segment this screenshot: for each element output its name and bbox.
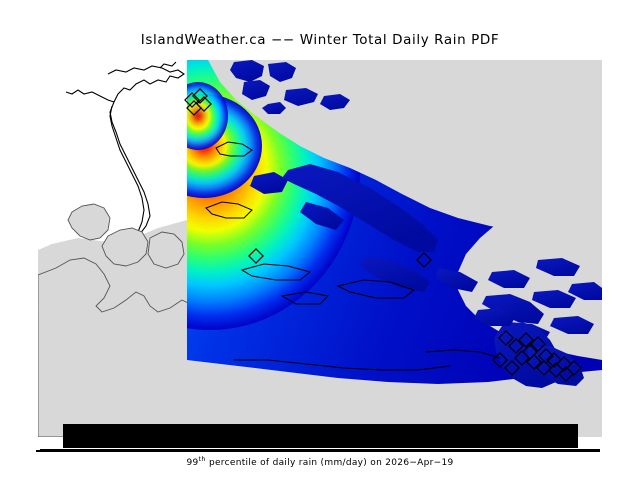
colorbar-gradient bbox=[63, 424, 578, 448]
caption-superscript: th bbox=[199, 455, 206, 463]
colorbar-axis-line bbox=[40, 449, 600, 452]
colorbar-caption: 99th percentile of daily rain (mm/day) o… bbox=[0, 458, 640, 468]
map-canvas[interactable] bbox=[38, 60, 602, 437]
colorbar-axis-tip bbox=[36, 450, 42, 452]
caption-suffix: percentile of daily rain (mm/day) on 202… bbox=[206, 458, 454, 468]
weather-map-figure: IslandWeather.ca −− Winter Total Daily R… bbox=[0, 0, 640, 480]
map-panel[interactable] bbox=[38, 60, 602, 437]
colorbar[interactable] bbox=[63, 424, 578, 448]
caption-prefix: 99 bbox=[186, 458, 198, 468]
page-title: IslandWeather.ca −− Winter Total Daily R… bbox=[0, 32, 640, 48]
